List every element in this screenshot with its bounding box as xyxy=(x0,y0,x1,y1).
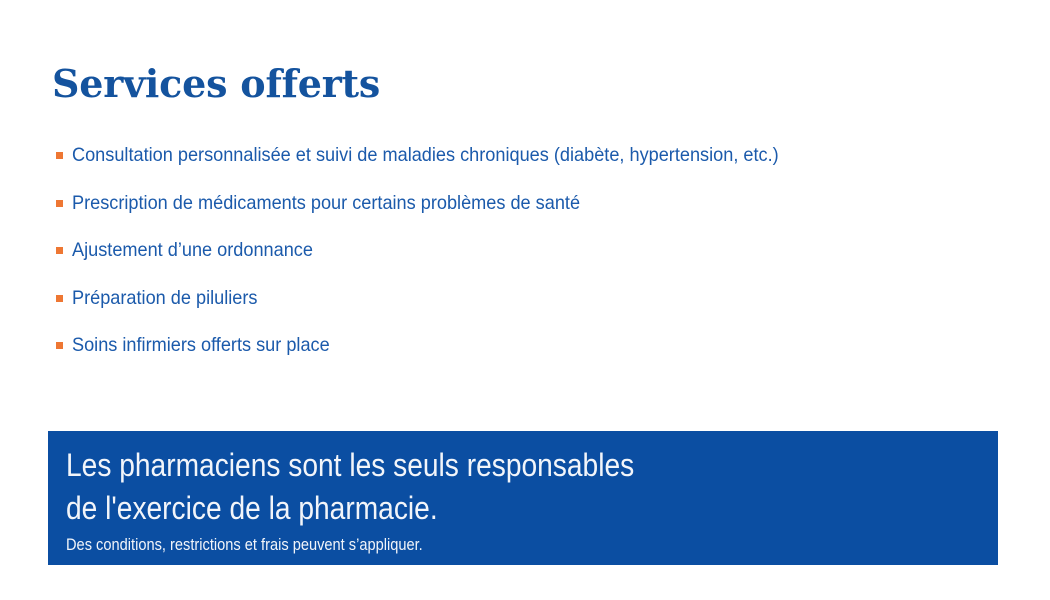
list-item-label: Consultation personnalisée et suivi de m… xyxy=(72,143,779,167)
page-title: Services offerts xyxy=(52,62,380,106)
disclaimer-banner: Les pharmaciens sont les seuls responsab… xyxy=(48,431,998,565)
orange-square-bullet-icon xyxy=(56,295,63,302)
list-item: Prescription de médicaments pour certain… xyxy=(56,191,1016,239)
banner-headline: Les pharmaciens sont les seuls responsab… xyxy=(66,444,870,530)
orange-square-bullet-icon xyxy=(56,200,63,207)
orange-square-bullet-icon xyxy=(56,152,63,159)
banner-headline-line-2: de l'exercice de la pharmacie. xyxy=(66,487,870,530)
orange-square-bullet-icon xyxy=(56,247,63,254)
services-bullet-list: Consultation personnalisée et suivi de m… xyxy=(56,143,1016,381)
banner-headline-line-1: Les pharmaciens sont les seuls responsab… xyxy=(66,444,870,487)
slide-canvas: Services offerts Consultation personnali… xyxy=(0,0,1050,600)
list-item: Ajustement d’une ordonnance xyxy=(56,238,1016,286)
list-item: Soins infirmiers offerts sur place xyxy=(56,333,1016,381)
banner-subline: Des conditions, restrictions et frais pe… xyxy=(66,534,852,556)
list-item-label: Soins infirmiers offerts sur place xyxy=(72,333,330,357)
list-item-label: Préparation de piluliers xyxy=(72,286,257,310)
list-item-label: Prescription de médicaments pour certain… xyxy=(72,191,580,215)
list-item: Consultation personnalisée et suivi de m… xyxy=(56,143,1016,191)
orange-square-bullet-icon xyxy=(56,342,63,349)
list-item: Préparation de piluliers xyxy=(56,286,1016,334)
list-item-label: Ajustement d’une ordonnance xyxy=(72,238,313,262)
